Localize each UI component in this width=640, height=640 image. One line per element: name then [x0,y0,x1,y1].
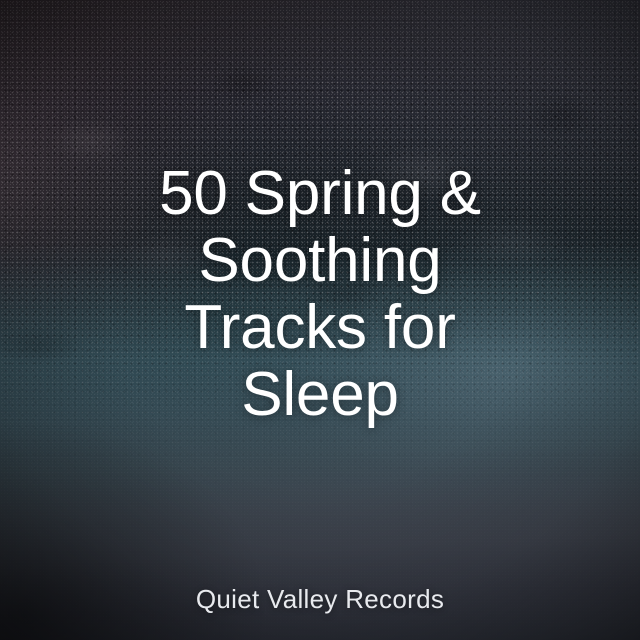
album-artist: Quiet Valley Records [0,583,640,615]
album-cover: 50 Spring & Soothing Tracks for Sleep Qu… [0,0,640,640]
album-title: 50 Spring & Soothing Tracks for Sleep [0,160,640,428]
cover-text-stack: 50 Spring & Soothing Tracks for Sleep Qu… [0,0,640,640]
